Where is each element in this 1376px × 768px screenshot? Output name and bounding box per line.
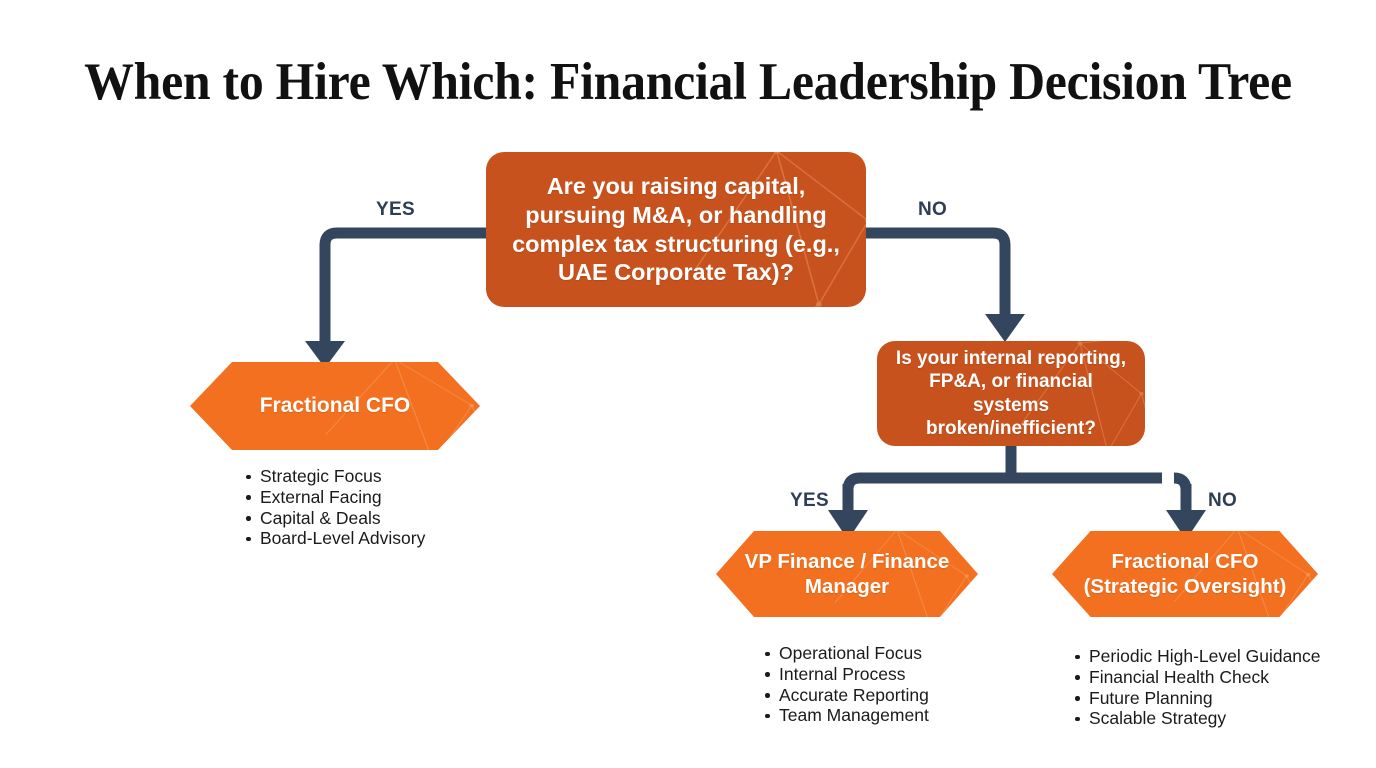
outcome-node-fractional-cfo-oversight[interactable]: Fractional CFO (Strategic Oversight) bbox=[1052, 531, 1318, 617]
list-item: Board-Level Advisory bbox=[243, 528, 425, 549]
branch-label-q2-yes: YES bbox=[790, 490, 829, 512]
outcome-node-fractional-cfo[interactable]: Fractional CFO bbox=[190, 362, 480, 450]
list-item: External Facing bbox=[243, 487, 425, 508]
branch-label-q2-no: NO bbox=[1208, 490, 1237, 512]
list-item: Internal Process bbox=[762, 664, 929, 685]
list-item: Financial Health Check bbox=[1072, 667, 1321, 688]
list-item: Accurate Reporting bbox=[762, 685, 929, 706]
outcome-node-fractional-cfo-text: Fractional CFO bbox=[250, 393, 421, 419]
bullet-list-fractional-cfo-oversight: Periodic High-Level Guidance Financial H… bbox=[1072, 646, 1321, 729]
connector-root-yes bbox=[305, 233, 486, 368]
connector-root-no bbox=[866, 233, 1025, 342]
list-item: Scalable Strategy bbox=[1072, 708, 1321, 729]
decision-node-q2-text: Is your internal reporting, FP&A, or fin… bbox=[877, 347, 1145, 440]
branch-label-root-yes: YES bbox=[376, 199, 415, 221]
branch-label-root-no: NO bbox=[918, 199, 947, 221]
list-item: Periodic High-Level Guidance bbox=[1072, 646, 1321, 667]
list-item: Capital & Deals bbox=[243, 508, 425, 529]
list-item: Operational Focus bbox=[762, 643, 929, 664]
page-title: When to Hire Which: Financial Leadership… bbox=[41, 52, 1334, 112]
outcome-node-fractional-cfo-oversight-text: Fractional CFO (Strategic Oversight) bbox=[1052, 549, 1318, 599]
list-item: Strategic Focus bbox=[243, 466, 425, 487]
outcome-node-vp-finance[interactable]: VP Finance / Finance Manager bbox=[716, 531, 978, 617]
list-item: Team Management bbox=[762, 705, 929, 726]
list-item: Future Planning bbox=[1072, 688, 1321, 709]
decision-node-q2[interactable]: Is your internal reporting, FP&A, or fin… bbox=[877, 341, 1145, 446]
diagram-canvas: When to Hire Which: Financial Leadership… bbox=[0, 0, 1376, 768]
decision-node-root[interactable]: Are you raising capital, pursuing M&A, o… bbox=[486, 152, 866, 307]
bullet-list-vp-finance: Operational Focus Internal Process Accur… bbox=[762, 643, 929, 726]
decision-node-root-text: Are you raising capital, pursuing M&A, o… bbox=[486, 172, 866, 287]
connector-q2-split bbox=[848, 446, 1186, 490]
outcome-node-vp-finance-text: VP Finance / Finance Manager bbox=[716, 549, 978, 599]
bullet-list-fractional-cfo: Strategic Focus External Facing Capital … bbox=[243, 466, 425, 549]
